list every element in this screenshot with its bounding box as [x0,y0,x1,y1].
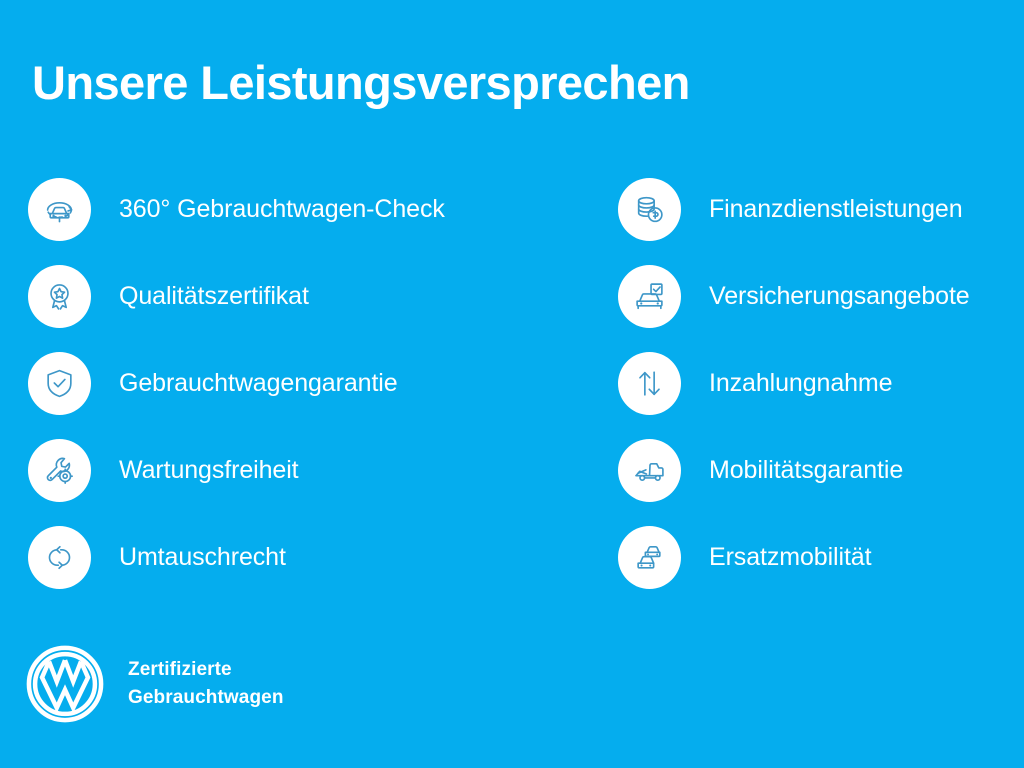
tow-truck-icon [618,439,681,502]
promise-label: Umtauschrecht [119,526,286,589]
brand-text: Zertifizierte Gebrauchtwagen [128,656,284,713]
promise-label: Versicherungsangebote [709,265,970,328]
two-cars-icon [618,526,681,589]
promise-label: Finanzdienstleistungen [709,178,963,241]
brand-line-1: Zertifizierte [128,656,284,685]
promise-item-warranty[interactable]: Gebrauchtwagengarantie [28,352,588,439]
award-rosette-icon [28,265,91,328]
exchange-arrows-icon [28,526,91,589]
promise-item-quality-certificate[interactable]: Qualitätszertifikat [28,265,588,352]
promises-banner: Unsere Leistungsversprechen [0,0,1024,768]
promise-column-right: Finanzdienstleistungen Versicherungsange… [618,178,1018,613]
promise-label: Mobilitätsgarantie [709,439,903,502]
up-down-arrows-icon [618,352,681,415]
promise-item-360-check[interactable]: 360° Gebrauchtwagen-Check [28,178,588,265]
brand-lockup: Zertifizierte Gebrauchtwagen [24,643,284,725]
shield-check-icon [28,352,91,415]
promise-label: Inzahlungnahme [709,352,892,415]
promise-item-financial-services[interactable]: Finanzdienstleistungen [618,178,1018,265]
promise-item-maintenance-free[interactable]: Wartungsfreiheit [28,439,588,526]
promise-label: Ersatzmobilität [709,526,871,589]
promise-item-mobility-guarantee[interactable]: Mobilitätsgarantie [618,439,1018,526]
car-360-check-icon [28,178,91,241]
page-title: Unsere Leistungsversprechen [32,58,690,107]
promise-column-left: 360° Gebrauchtwagen-Check Qualitätszerti… [28,178,588,613]
promise-label: Gebrauchtwagengarantie [119,352,398,415]
promise-label: Wartungsfreiheit [119,439,299,502]
promise-item-replacement-mobility[interactable]: Ersatzmobilität [618,526,1018,613]
promise-label: 360° Gebrauchtwagen-Check [119,178,445,241]
wrench-gear-icon [28,439,91,502]
car-insurance-check-icon [618,265,681,328]
promise-item-insurance-offers[interactable]: Versicherungsangebote [618,265,1018,352]
coins-money-icon [618,178,681,241]
promise-label: Qualitätszertifikat [119,265,309,328]
brand-line-2: Gebrauchtwagen [128,684,284,713]
volkswagen-logo [24,643,106,725]
promise-item-trade-in[interactable]: Inzahlungnahme [618,352,1018,439]
promise-item-exchange-right[interactable]: Umtauschrecht [28,526,588,613]
